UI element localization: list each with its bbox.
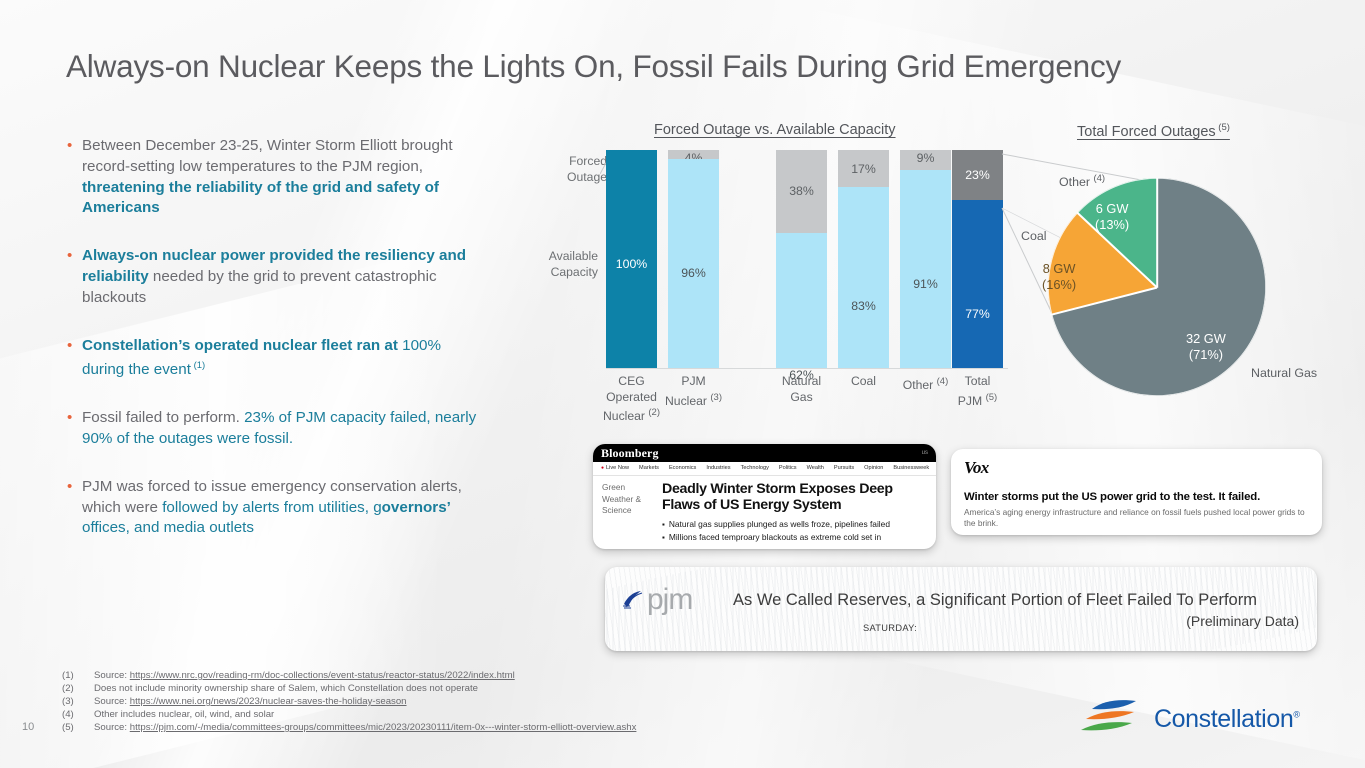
bar-segment-value: 83% (838, 299, 889, 313)
bullet-item: •Between December 23-25, Winter Storm El… (64, 136, 484, 219)
bullet-text: Always-on nuclear power provided the res… (82, 246, 484, 308)
bloomberg-summary-bullets: Natural gas supplies plunged as wells fr… (662, 518, 927, 544)
bloomberg-summary-item: Millions faced temproary blackouts as ex… (662, 531, 927, 544)
footnotes: (1)Source: https://www.nrc.gov/reading-r… (62, 669, 636, 734)
pie-slice-value: 8 GW(16%) (1042, 261, 1076, 293)
bar-segment-value: 9% (900, 151, 951, 165)
footnote-row: (1)Source: https://www.nrc.gov/reading-r… (62, 669, 636, 682)
bloomberg-headline: Deadly Winter Storm Exposes Deep Flaws o… (662, 482, 927, 513)
bar-x-label: TotalPJM (5) (935, 374, 1021, 409)
bar-segment-value: 38% (776, 184, 827, 198)
pjm-headline: As We Called Reserves, a Significant Por… (733, 591, 1303, 610)
footnote-link[interactable]: https://www.nrc.gov/reading-rm/doc-colle… (130, 670, 515, 681)
constellation-logo: Constellation® (1078, 698, 1300, 740)
bullet-text: Fossil failed to perform. 23% of PJM cap… (82, 408, 484, 450)
pie-chart-title: Total Forced Outages (5) (1077, 122, 1230, 140)
bar-segment-available-capacity: 77% (952, 200, 1003, 368)
bullet-marker-icon: • (64, 246, 82, 308)
bloomberg-logo: Bloomberg (601, 446, 659, 461)
bloomberg-nav-item[interactable]: Live Now (601, 465, 629, 471)
footnote-link[interactable]: https://pjm.com/-/media/committees-group… (130, 722, 637, 733)
bullet-item: •PJM was forced to issue emergency conse… (64, 477, 484, 539)
bullet-marker-icon: • (64, 136, 82, 219)
bloomberg-nav-item[interactable]: Economics (669, 465, 696, 471)
pjm-bird-icon (621, 587, 647, 613)
page-title: Always-on Nuclear Keeps the Lights On, F… (66, 48, 1121, 85)
bullet-item: •Always-on nuclear power provided the re… (64, 246, 484, 308)
bar-segment-available-capacity: 83% (838, 187, 889, 368)
bullet-marker-icon: • (64, 408, 82, 450)
pie-slice-value: 32 GW(71%) (1186, 331, 1226, 363)
bullet-item: •Fossil failed to perform. 23% of PJM ca… (64, 408, 484, 450)
footnote-row: (3)Source: https://www.nei.org/news/2023… (62, 695, 636, 708)
bloomberg-nav-item[interactable]: Markets (639, 465, 659, 471)
bar-chart-title: Forced Outage vs. Available Capacity (654, 122, 896, 138)
bullet-marker-icon: • (64, 336, 82, 382)
bar-column: 17%83% (838, 150, 889, 368)
footnote-text: Source: https://www.nei.org/news/2023/nu… (94, 695, 407, 708)
bloomberg-nav-item[interactable]: Industries (706, 465, 730, 471)
footnote-number: (3) (62, 695, 94, 708)
bar-segment-forced-outage: 4% (668, 150, 719, 159)
news-card-pjm[interactable]: pjm As We Called Reserves, a Significant… (605, 567, 1317, 651)
footnote-row: (2)Does not include minority ownership s… (62, 682, 636, 695)
bloomberg-topbar-right: us (922, 450, 928, 456)
bar-segment-forced-outage: 38% (776, 150, 827, 233)
footnote-number: (5) (62, 721, 94, 734)
pie-slice-label: Other (4) (1059, 173, 1105, 189)
footnote-number: (2) (62, 682, 94, 695)
bloomberg-article: Green Weather & Science Deadly Winter St… (593, 476, 936, 544)
bloomberg-nav-item[interactable]: Businessweek (893, 465, 929, 471)
bar-x-label: PJMNuclear (3) (651, 374, 737, 409)
bar-segment-value: 100% (606, 257, 657, 271)
bloomberg-topbar: Bloomberg us (593, 444, 936, 462)
bar-chart-plot: 100%4%96%38%62%17%83%9%91%23%77% (606, 150, 1006, 368)
news-card-vox[interactable]: Vox Winter storms put the US power grid … (951, 449, 1322, 535)
bar-segment-value: 77% (952, 307, 1003, 321)
pie-slice-value: 6 GW(13%) (1095, 201, 1129, 233)
y-axis-label-forced-outage: ForcedOutage (527, 154, 607, 185)
y-axis-label-available-capacity: AvailableCapacity (518, 249, 598, 280)
constellation-wordmark: Constellation® (1154, 705, 1300, 734)
footnote-number: (1) (62, 669, 94, 682)
bar-segment-forced-outage: 9% (900, 150, 951, 170)
bar-chart-axis (606, 368, 1008, 369)
bar-segment-forced-outage: 17% (838, 150, 889, 187)
bar-segment-value: 91% (900, 277, 951, 291)
pie-slice-label: Natural Gas (1251, 366, 1317, 380)
footnote-link[interactable]: https://www.nei.org/news/2023/nuclear-sa… (130, 696, 407, 707)
pjm-day-label: SATURDAY: (863, 623, 917, 633)
bloomberg-kicker: Green Weather & Science (602, 482, 654, 544)
bar-column: 4%96% (668, 150, 719, 368)
bar-column: 38%62% (776, 150, 827, 368)
bullet-item: •Constellation’s operated nuclear fleet … (64, 336, 484, 382)
bullet-list: •Between December 23-25, Winter Storm El… (64, 136, 484, 566)
pie-slice-label: Coal (1021, 229, 1046, 243)
page-number: 10 (22, 721, 34, 733)
bar-column: 9%91% (900, 150, 951, 368)
bloomberg-nav[interactable]: Live NowMarketsEconomicsIndustriesTechno… (593, 462, 936, 476)
footnote-text: Does not include minority ownership shar… (94, 682, 478, 695)
footnote-row: (4)Other includes nuclear, oil, wind, an… (62, 708, 636, 721)
pie-circle (1048, 178, 1266, 396)
bullet-text: Constellation’s operated nuclear fleet r… (82, 336, 484, 382)
vox-subheadline: America’s aging energy infrastructure an… (964, 507, 1309, 529)
bar-segment-available-capacity: 91% (900, 170, 951, 368)
pjm-logo: pjm (621, 587, 733, 613)
slide-canvas: Always-on Nuclear Keeps the Lights On, F… (0, 0, 1365, 768)
bar-segment-forced-outage: 23% (952, 150, 1003, 200)
bloomberg-nav-item[interactable]: Wealth (807, 465, 824, 471)
footnote-row: (5)Source: https://pjm.com/-/media/commi… (62, 721, 636, 734)
news-card-bloomberg[interactable]: Bloomberg us Live NowMarketsEconomicsInd… (593, 444, 936, 549)
footnote-text: Other includes nuclear, oil, wind, and s… (94, 708, 274, 721)
bloomberg-summary-item: Natural gas supplies plunged as wells fr… (662, 518, 927, 531)
vox-headline: Winter storms put the US power grid to t… (964, 491, 1309, 503)
pie-divider-1 (1156, 178, 1158, 288)
bullet-text: PJM was forced to issue emergency conser… (82, 477, 484, 539)
bloomberg-nav-item[interactable]: Pursuits (834, 465, 854, 471)
pjm-wordmark: pjm (647, 587, 692, 613)
constellation-trademark: ® (1293, 709, 1299, 719)
footnote-text: Source: https://www.nrc.gov/reading-rm/d… (94, 669, 515, 682)
constellation-mark-icon (1078, 698, 1146, 740)
bloomberg-nav-item[interactable]: Technology (741, 465, 769, 471)
vox-logo: Vox (964, 458, 1309, 478)
bloomberg-nav-item[interactable]: Politics (779, 465, 797, 471)
bar-segment-available-capacity: 96% (668, 159, 719, 368)
pie-chart-plot (1048, 178, 1266, 396)
bullet-marker-icon: • (64, 477, 82, 539)
bar-segment-value: 96% (668, 266, 719, 280)
footnote-number: (4) (62, 708, 94, 721)
bar-segment-available-capacity: 62% (776, 233, 827, 368)
bar-segment-value: 17% (838, 162, 889, 176)
bar-segment-available-capacity: 100% (606, 150, 657, 368)
pjm-preliminary-note: (Preliminary Data) (1186, 613, 1299, 629)
bar-column: 23%77% (952, 150, 1003, 368)
bar-segment-value: 23% (952, 168, 1003, 182)
bloomberg-nav-item[interactable]: Opinion (864, 465, 883, 471)
constellation-name: Constellation (1154, 705, 1293, 733)
bullet-text: Between December 23-25, Winter Storm Ell… (82, 136, 484, 219)
bar-column: 100% (606, 150, 657, 368)
footnote-text: Source: https://pjm.com/-/media/committe… (94, 721, 636, 734)
